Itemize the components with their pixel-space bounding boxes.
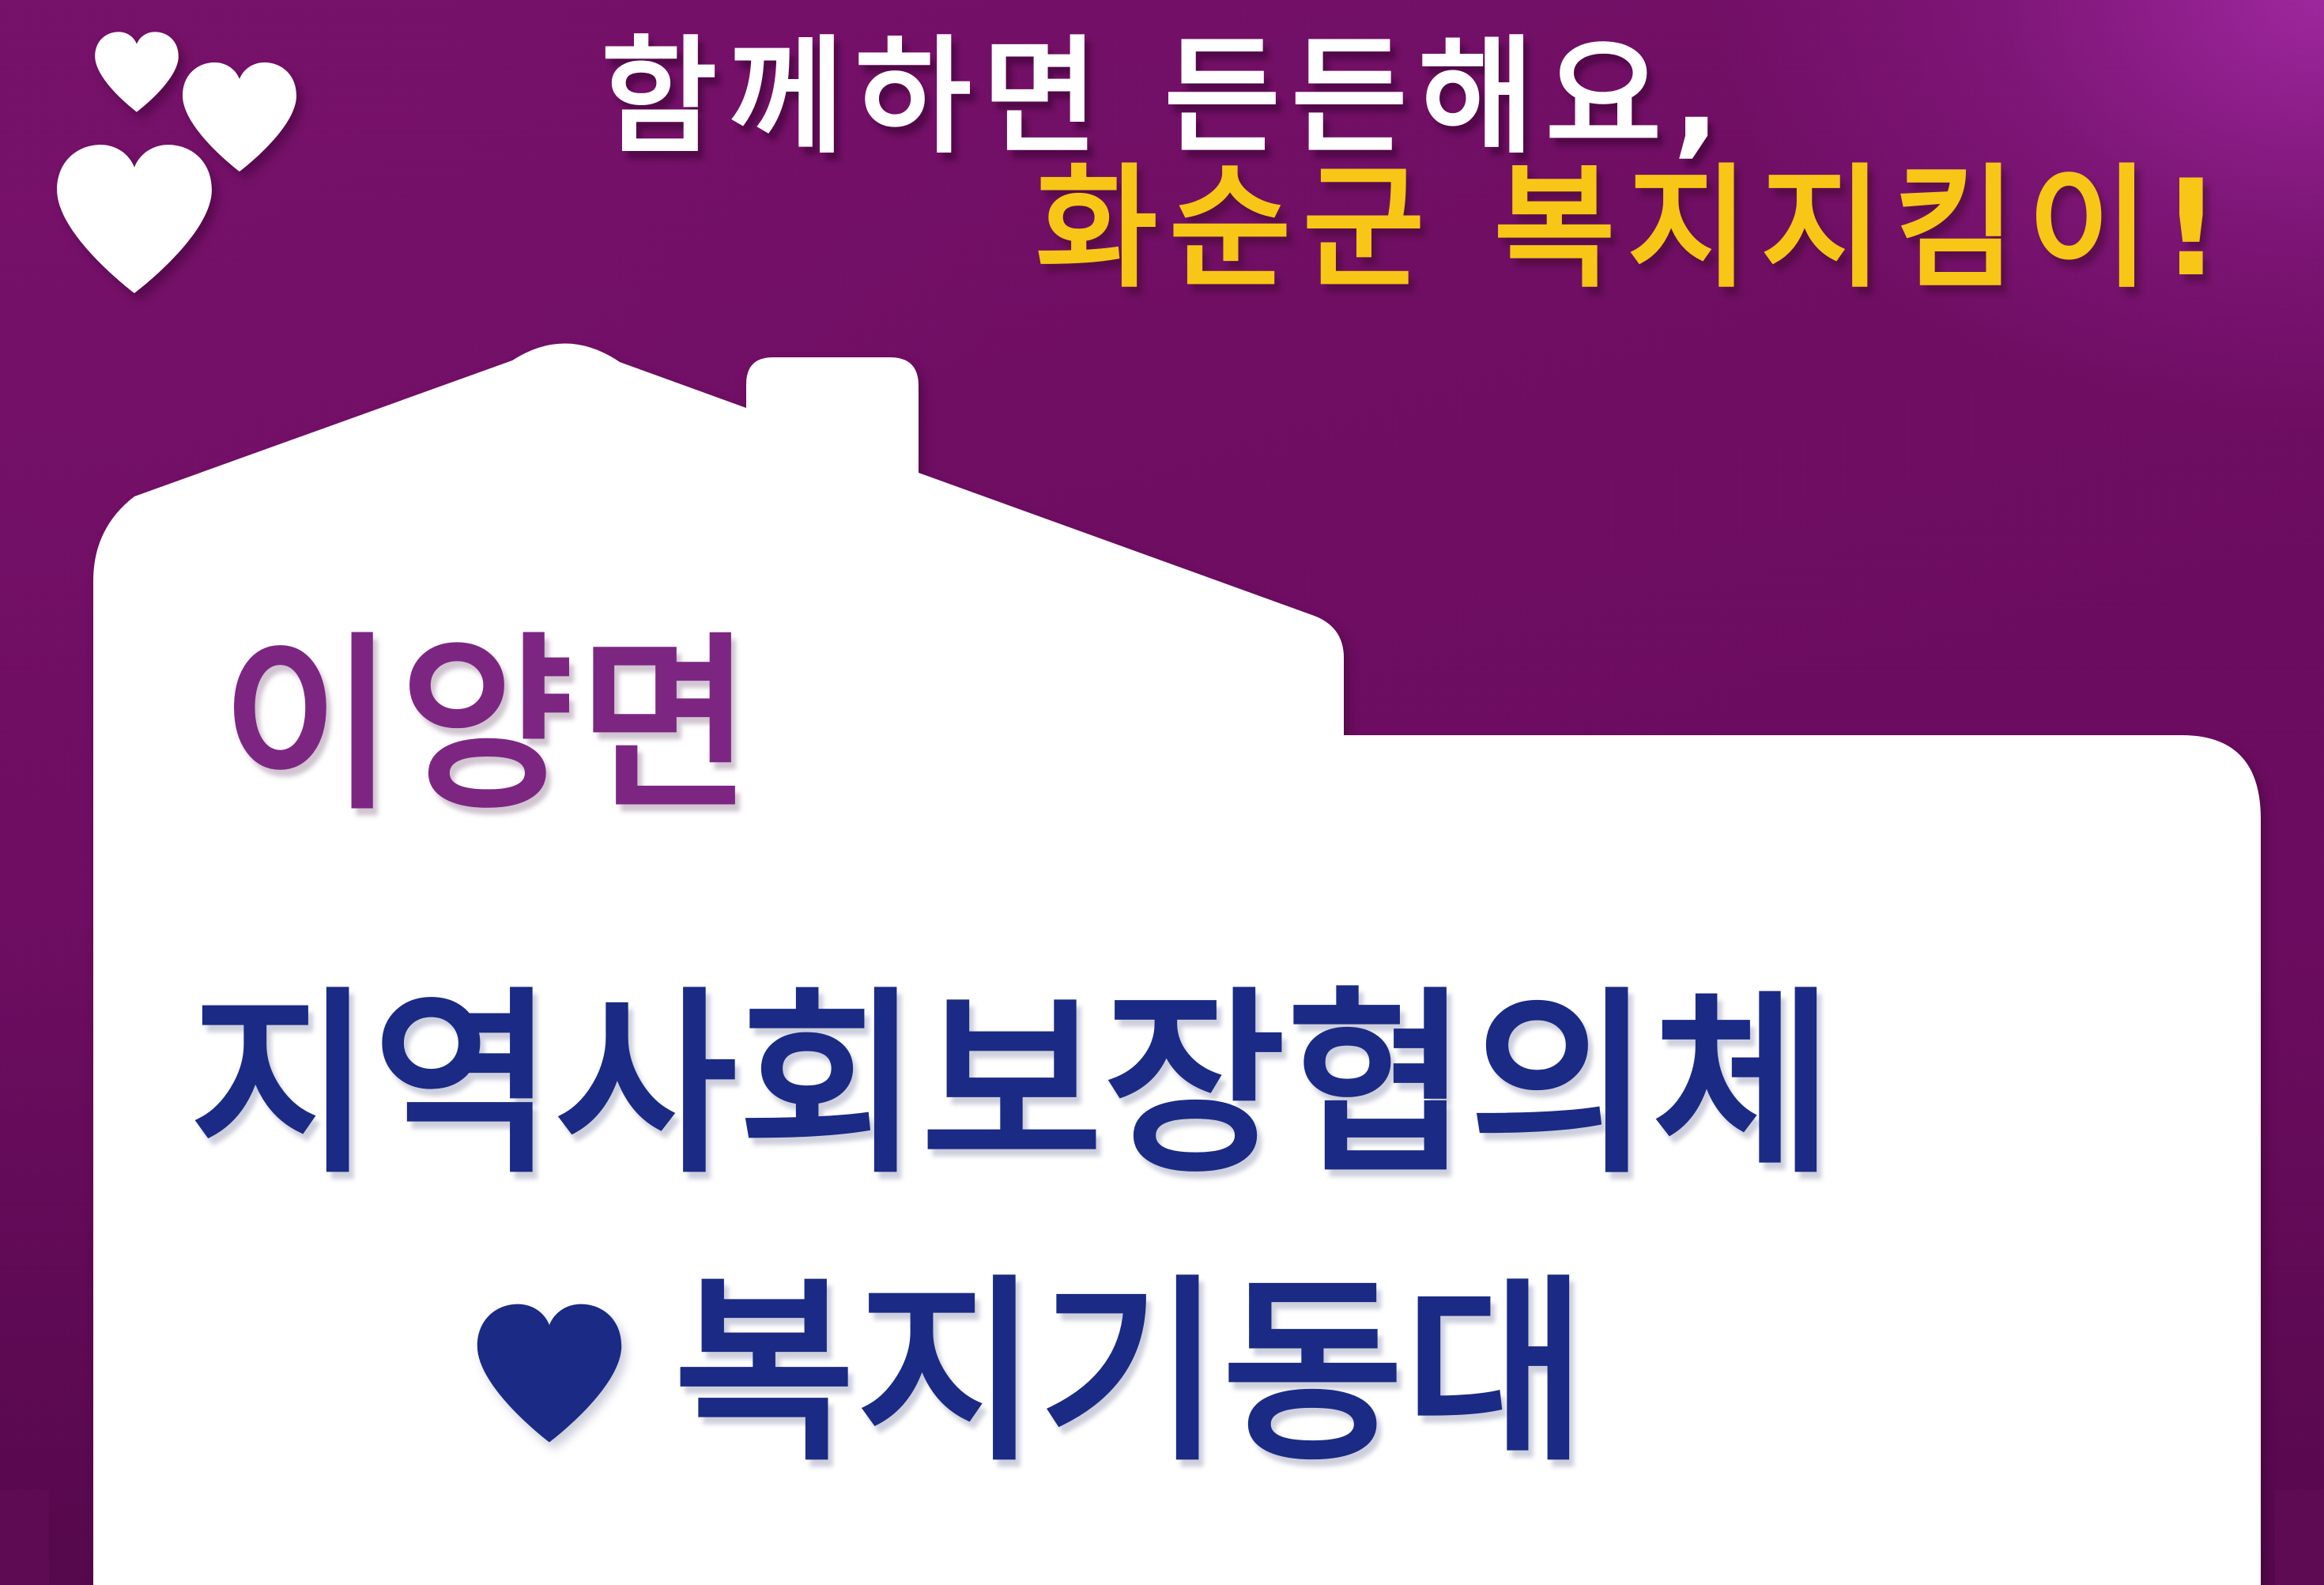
- border-sliver-left: [0, 1490, 49, 1585]
- team-row: 복지기동대: [474, 1274, 1587, 1472]
- team-name: 복지기동대: [673, 1274, 1587, 1472]
- tagline-line-1: 함께하면 든든해요,: [601, 30, 1731, 164]
- heart-large: [54, 144, 215, 294]
- tagline-line-2: 화순군 복지지킴이!: [1036, 158, 2232, 299]
- heart-icon: [474, 1303, 624, 1443]
- poster-canvas: 함께하면 든든해요, 화순군 복지지킴이! 이양면 지역사회보장협의체 복지기동…: [0, 0, 2324, 1585]
- border-sliver-right: [2275, 1490, 2324, 1585]
- organization-name: 지역사회보장협의체: [190, 987, 1835, 1184]
- heart-small: [93, 32, 180, 112]
- township-name: 이양면: [221, 632, 757, 821]
